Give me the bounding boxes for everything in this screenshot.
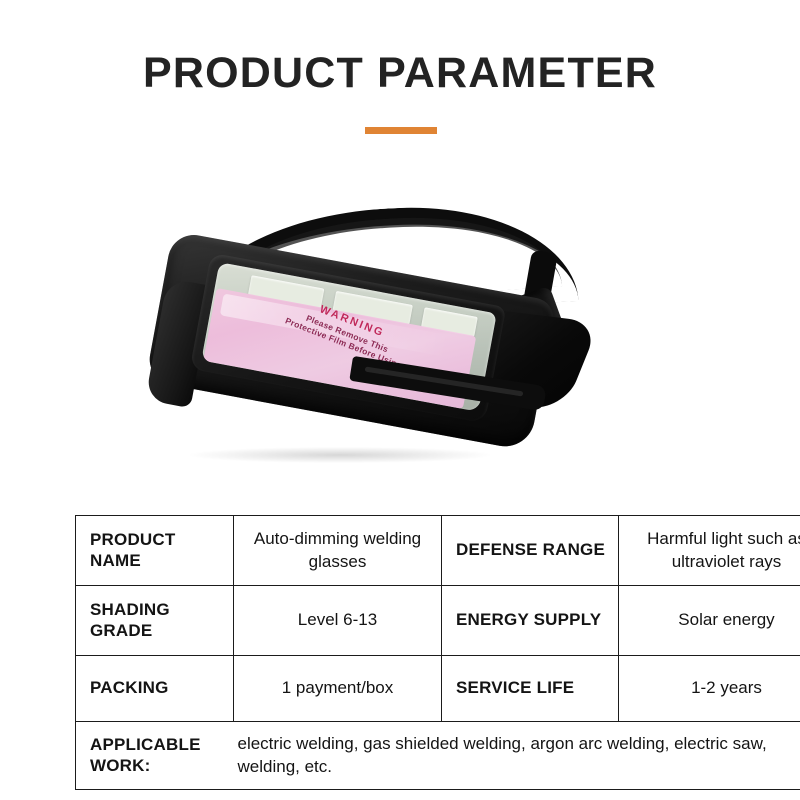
spec-value-packing: 1 payment/box <box>234 656 442 722</box>
page-title: PRODUCT PARAMETER <box>0 52 800 95</box>
spec-label-service-life: SERVICE LIFE <box>442 656 619 722</box>
product-drop-shadow <box>190 447 490 463</box>
spec-label-shading-grade: SHADING GRADE <box>76 586 234 656</box>
table-row-applicable-work: APPLICABLE WORK: electric welding, gas s… <box>76 722 800 790</box>
welding-goggles-product: WARNING Please Remove This Protective Fi… <box>150 203 610 473</box>
table-row: PACKING 1 payment/box SERVICE LIFE 1-2 y… <box>76 656 800 722</box>
page-header: PRODUCT PARAMETER <box>0 0 800 165</box>
table-row: SHADING GRADE Level 6-13 ENERGY SUPPLY S… <box>76 586 800 656</box>
spec-label-defense-range: DEFENSE RANGE <box>442 516 619 586</box>
spec-label-energy-supply: ENERGY SUPPLY <box>442 586 619 656</box>
spec-value-shading-grade: Level 6-13 <box>234 586 442 656</box>
spec-value-defense-range: Harmful light such as ultraviolet rays <box>619 516 800 586</box>
spec-label-product-name: PRODUCT NAME <box>76 516 234 586</box>
product-image-stage: WARNING Please Remove This Protective Fi… <box>0 175 800 505</box>
spec-value-applicable-work: electric welding, gas shielded welding, … <box>234 722 800 790</box>
table-row: PRODUCT NAME Auto-dimming welding glasse… <box>76 516 800 586</box>
product-parameter-table: PRODUCT NAME Auto-dimming welding glasse… <box>75 515 800 790</box>
spec-value-energy-supply: Solar energy <box>619 586 800 656</box>
spec-value-product-name: Auto-dimming welding glasses <box>234 516 442 586</box>
spec-value-service-life: 1-2 years <box>619 656 800 722</box>
spec-label-applicable-work: APPLICABLE WORK: <box>76 722 234 790</box>
title-divider <box>365 127 437 134</box>
spec-label-packing: PACKING <box>76 656 234 722</box>
